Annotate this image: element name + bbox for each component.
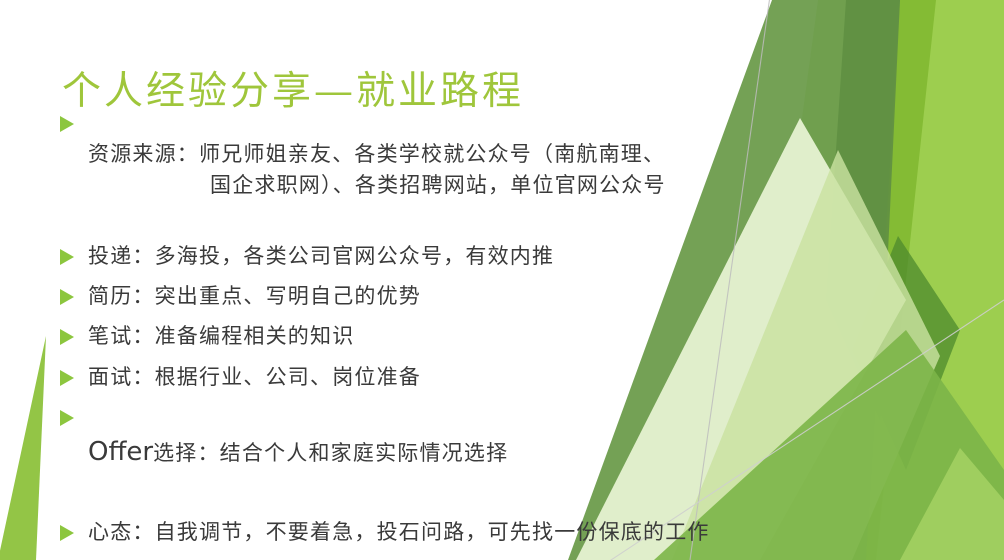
list-item-line-2: 国企求职网）、各类招聘网站，单位官网公众号	[88, 170, 860, 201]
presentation-slide: 个人经验分享—就业路程 资源来源：师兄师姐亲友、各类学校就公众号（南航南理、 国…	[0, 0, 1004, 560]
list-item-label: 资源来源：师兄师姐亲友、各类学校就公众号（南航南理、 国企求职网）、各类招聘网站…	[88, 108, 860, 232]
bullet-list: 资源来源：师兄师姐亲友、各类学校就公众号（南航南理、 国企求职网）、各类招聘网站…	[60, 108, 860, 557]
list-item[interactable]: 心态：自我调节，不要着急，投石问路，可先找一份保底的工作	[60, 517, 860, 548]
list-item-label: 面试：根据行业、公司、岗位准备	[88, 362, 860, 393]
list-item-label: 简历：突出重点、写明自己的优势	[88, 281, 860, 312]
list-item[interactable]: 投递：多海投，各类公司官网公众号，有效内推	[60, 241, 860, 272]
triangle-right-icon	[60, 329, 74, 345]
triangle-right-icon	[60, 289, 74, 305]
list-item-label: 笔试：准备编程相关的知识	[88, 321, 860, 352]
list-item-label: Offer选择：结合个人和家庭实际情况选择	[88, 402, 860, 472]
list-item-label: 投递：多海投，各类公司官网公众号，有效内推	[88, 241, 860, 272]
list-item[interactable]: 面试：根据行业、公司、岗位准备	[60, 362, 860, 393]
list-item[interactable]: 资源来源：师兄师姐亲友、各类学校就公众号（南航南理、 国企求职网）、各类招聘网站…	[60, 108, 860, 232]
triangle-right-icon	[60, 249, 74, 265]
list-item-line-1: 选择：结合个人和家庭实际情况选择	[153, 441, 508, 465]
list-item-label: 心态：自我调节，不要着急，投石问路，可先找一份保底的工作	[88, 517, 860, 548]
list-item-line-1: 资源来源：师兄师姐亲友、各类学校就公众号（南航南理、	[88, 142, 665, 166]
list-item[interactable]: 简历：突出重点、写明自己的优势	[60, 281, 860, 312]
list-item[interactable]: Offer选择：结合个人和家庭实际情况选择	[60, 402, 860, 472]
triangle-right-icon	[60, 525, 74, 541]
slide-content: 个人经验分享—就业路程 资源来源：师兄师姐亲友、各类学校就公众号（南航南理、 国…	[0, 0, 1004, 560]
triangle-right-icon	[60, 410, 74, 426]
triangle-right-icon	[60, 370, 74, 386]
list-item-latin-lead: Offer	[88, 437, 153, 467]
triangle-right-icon	[60, 116, 74, 132]
list-item[interactable]: 笔试：准备编程相关的知识	[60, 321, 860, 352]
